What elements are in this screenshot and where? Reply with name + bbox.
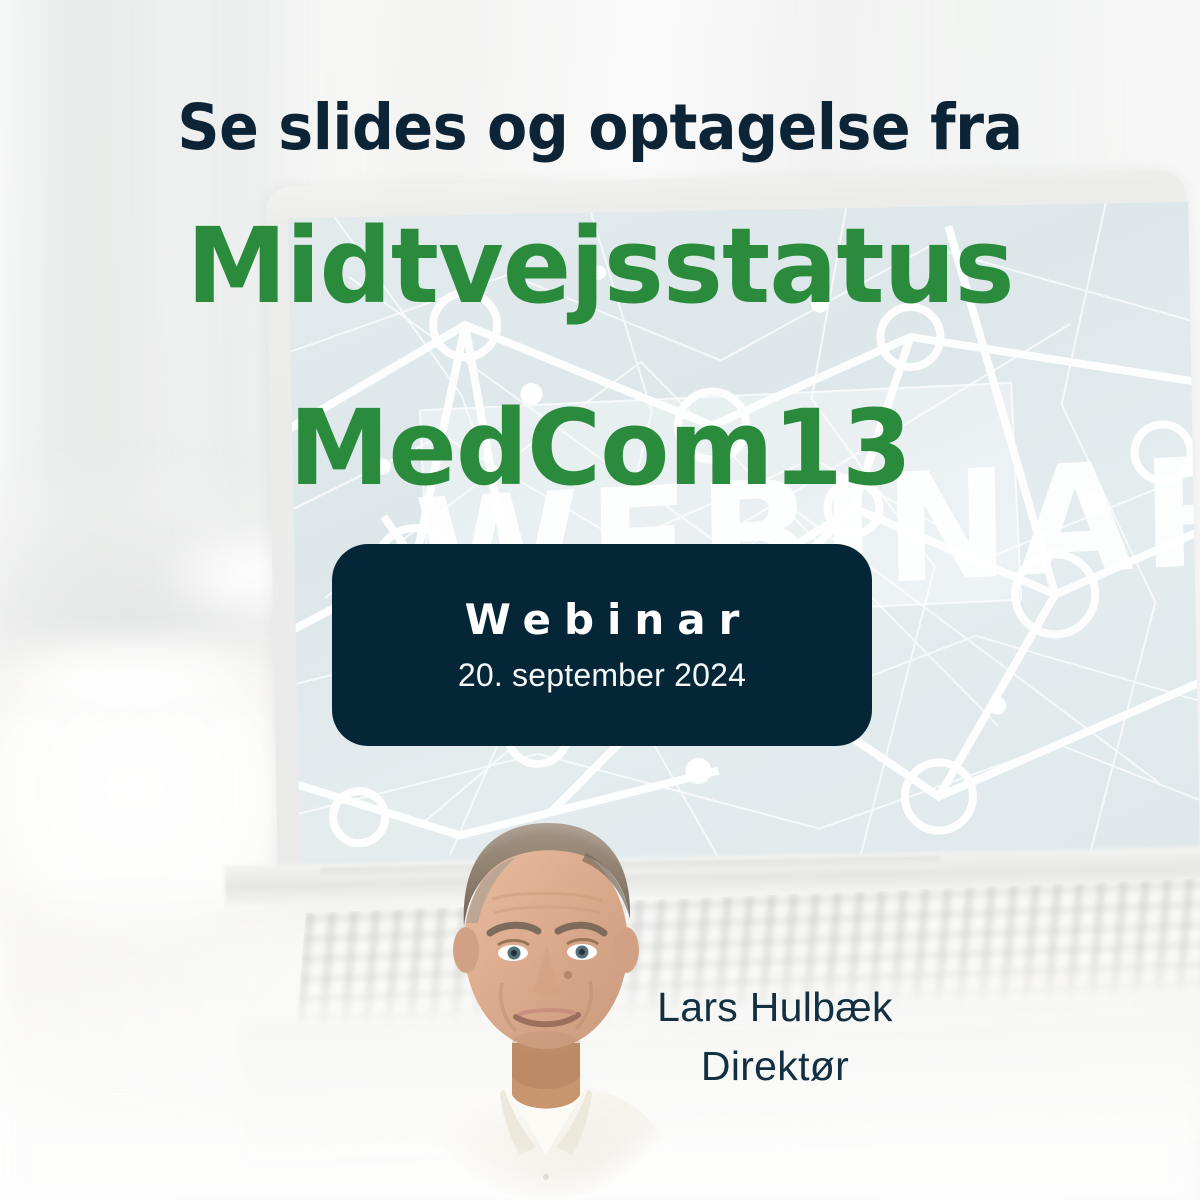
speaker-name: Lars Hulbæk xyxy=(600,985,950,1030)
event-title-line-2: MedCom13 xyxy=(18,396,1182,500)
speaker-caption: Lars Hulbæk Direktør xyxy=(600,985,950,1089)
badge-date: 20. september 2024 xyxy=(458,659,746,691)
event-type-badge: Webinar 20. september 2024 xyxy=(332,544,872,746)
event-title-line-1: Midtvejsstatus xyxy=(18,214,1182,318)
webinar-promo-poster: WEBINAR Se slides og optagelse fra Midtv… xyxy=(0,0,1200,1200)
speaker-role: Direktør xyxy=(600,1044,950,1089)
page-title: Se slides og optagelse fra xyxy=(42,96,1158,159)
badge-label: Webinar xyxy=(452,599,753,641)
